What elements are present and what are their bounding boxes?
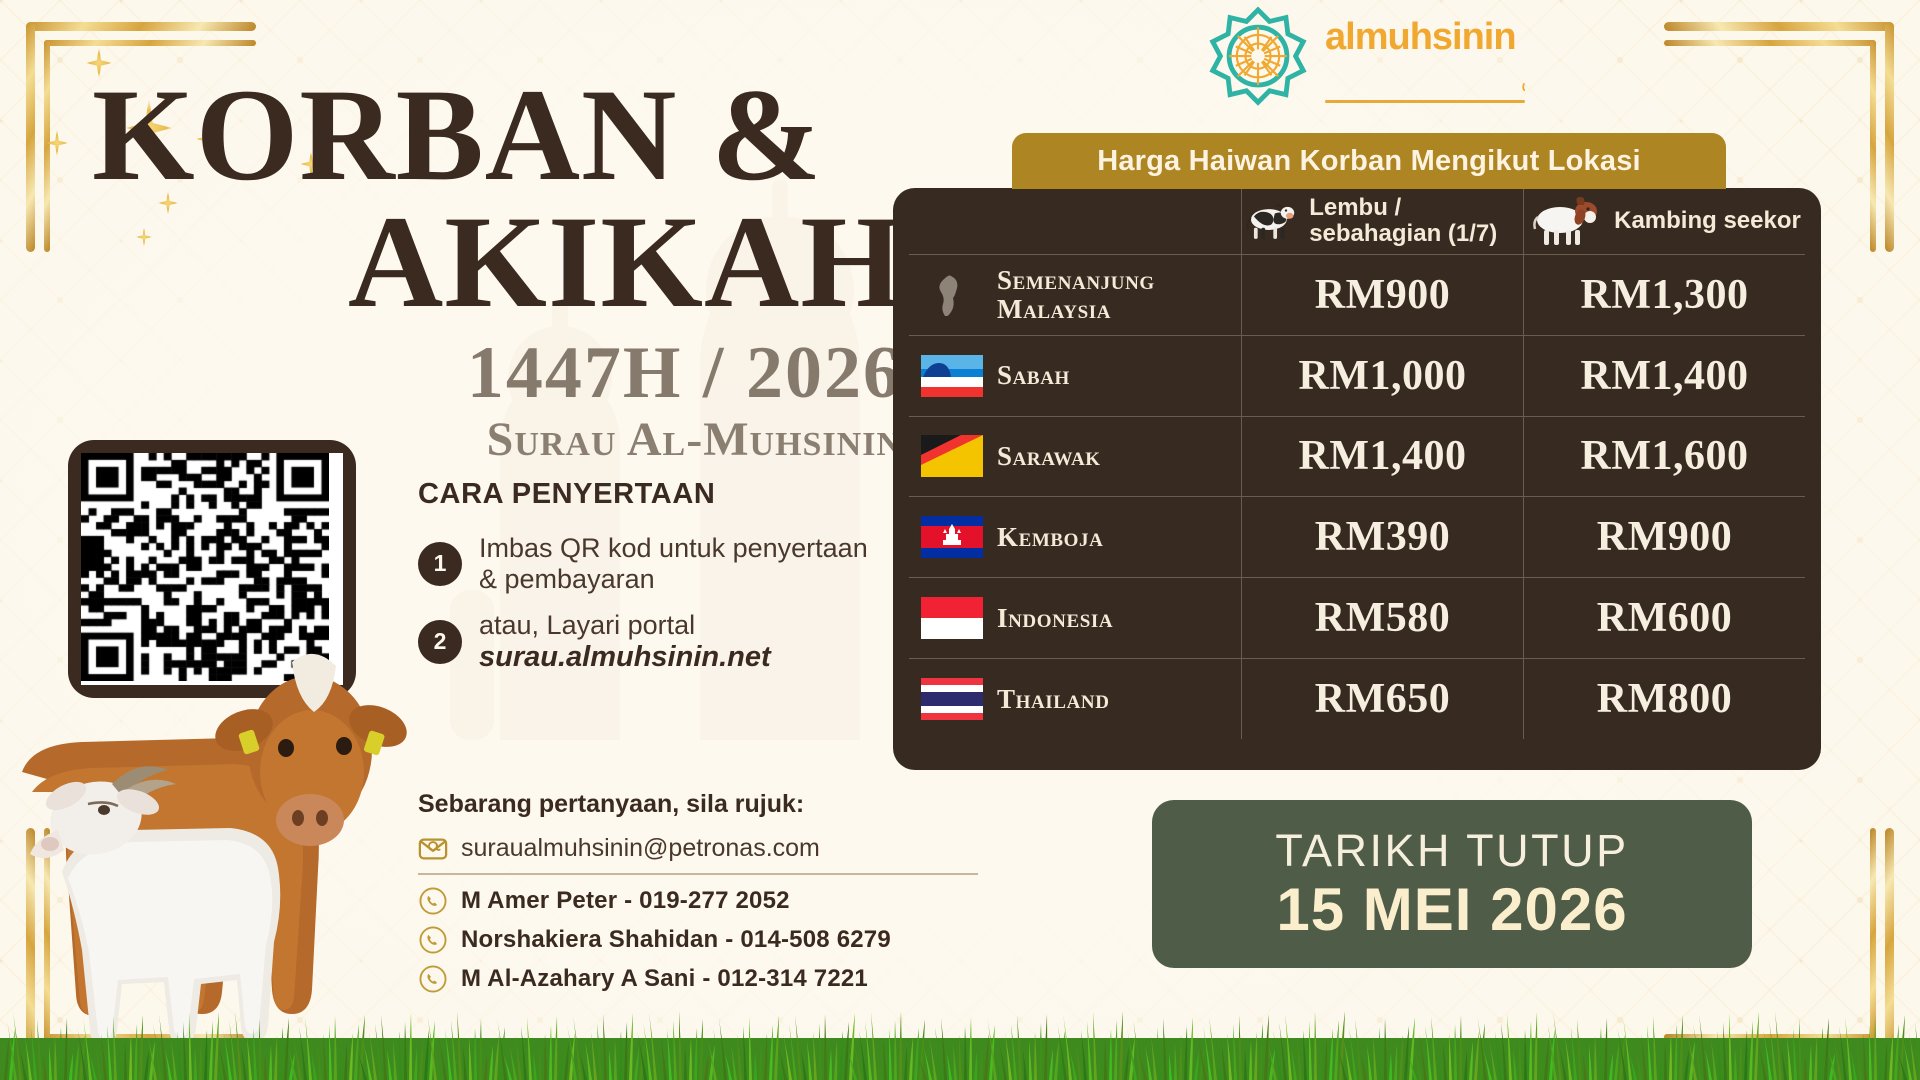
header-label-kambing: Kambing seekor	[1614, 208, 1801, 234]
price-value: RM1,400	[1299, 432, 1467, 480]
poster-title-line1: KORBAN &	[92, 72, 912, 199]
row-location-cell: Semenanjung Malaysia	[909, 255, 1241, 335]
row-price-lembu: RM1,400	[1241, 417, 1523, 497]
price-table-banner: Harga Haiwan Korban Mengikut Lokasi	[1012, 133, 1726, 189]
svg-text:سوراو المحسنين فيترونس: سوراو المحسنين فيترونس	[1521, 68, 1525, 92]
cow-icon	[1242, 195, 1297, 247]
contact-person-row[interactable]: Norshakiera Shahidan - 014-508 6279	[418, 925, 978, 955]
contact-email-row[interactable]: suraualmuhsinin@petronas.com	[418, 833, 978, 863]
row-price-lembu: RM900	[1241, 255, 1523, 335]
email-icon	[418, 833, 448, 863]
brand-logo: almuhsinin سوراو المحسنين فيترونس	[1205, 6, 1525, 112]
location-name: Semenanjung Malaysia	[997, 266, 1241, 323]
step-text: Imbas QR kod untuk penyertaan & pembayar…	[479, 533, 888, 594]
cow-and-goat-photo	[0, 622, 422, 1042]
contact-section: Sebarang pertanyaan, sila rujuk: suraual…	[418, 790, 978, 1003]
contact-person-row[interactable]: M Amer Peter - 019-277 2052	[418, 886, 978, 916]
deadline-label: TARIKH TUTUP	[1275, 825, 1628, 877]
contact-divider	[418, 873, 978, 875]
location-name: Thailand	[997, 685, 1110, 714]
how-to-step: 2 atau, Layari portal surau.almuhsinin.n…	[418, 610, 888, 673]
table-row: Semenanjung Malaysia RM900 RM1,300	[909, 254, 1805, 335]
price-value: RM600	[1597, 594, 1732, 642]
step-number-badge: 2	[418, 620, 462, 664]
location-name: Sarawak	[997, 442, 1101, 471]
price-value: RM1,300	[1581, 271, 1749, 319]
row-location-cell: Sabah	[909, 336, 1241, 416]
price-value: RM580	[1315, 594, 1450, 642]
row-price-kambing: RM800	[1523, 659, 1805, 739]
contact-person[interactable]: M Amer Peter - 019-277 2052	[461, 887, 790, 915]
price-value: RM1,600	[1581, 432, 1749, 480]
step-number-badge: 1	[418, 542, 462, 586]
price-value: RM900	[1597, 513, 1732, 561]
row-location-cell: Thailand	[909, 659, 1241, 739]
price-value: RM900	[1315, 271, 1450, 319]
contact-person-row[interactable]: M Al-Azahary A Sani - 012-314 7221	[418, 964, 978, 994]
row-price-lembu: RM650	[1241, 659, 1523, 739]
price-table-banner-text: Harga Haiwan Korban Mengikut Lokasi	[1097, 145, 1641, 178]
location-name: Indonesia	[997, 604, 1113, 633]
how-to-step: 1 Imbas QR kod untuk penyertaan & pembay…	[418, 533, 888, 594]
price-value: RM390	[1315, 513, 1450, 561]
row-location-cell: Kemboja	[909, 497, 1241, 577]
grass-decoration	[0, 1004, 1920, 1080]
sabah-flag-icon	[921, 355, 983, 397]
logo-arabic-text: سوراو المحسنين فيترونس	[1325, 63, 1525, 95]
contact-heading: Sebarang pertanyaan, sila rujuk:	[418, 790, 978, 819]
row-price-kambing: RM900	[1523, 497, 1805, 577]
header-cell-lembu: Lembu / sebahagian (1/7)	[1241, 188, 1523, 254]
peninsular-malaysia-map-icon	[921, 274, 983, 316]
row-price-kambing: RM1,300	[1523, 255, 1805, 335]
row-price-kambing: RM1,400	[1523, 336, 1805, 416]
location-name: Sabah	[997, 361, 1070, 390]
deadline-box: TARIKH TUTUP 15 MEI 2026	[1152, 800, 1752, 968]
phone-icon	[418, 886, 448, 916]
svg-text:almuhsinin: almuhsinin	[1325, 16, 1516, 58]
table-row: Sabah RM1,000 RM1,400	[909, 335, 1805, 416]
price-value: RM1,400	[1581, 352, 1749, 400]
price-value: RM800	[1597, 675, 1732, 723]
poster-title-line2: AKIKAH	[92, 199, 912, 326]
header-cell-kambing: Kambing seekor	[1523, 188, 1805, 254]
table-row: Kemboja RM390 RM900	[909, 496, 1805, 577]
cambodia-flag-icon	[921, 516, 983, 558]
price-table: Lembu / sebahagian (1/7)	[893, 188, 1821, 770]
row-price-lembu: RM580	[1241, 578, 1523, 658]
header-cell-location	[909, 188, 1241, 254]
goat-icon	[1528, 195, 1602, 247]
location-name: Kemboja	[997, 523, 1103, 552]
contact-email[interactable]: suraualmuhsinin@petronas.com	[461, 834, 820, 863]
header-label-lembu: Lembu / sebahagian (1/7)	[1309, 195, 1523, 248]
row-price-kambing: RM600	[1523, 578, 1805, 658]
price-value: RM1,000	[1299, 352, 1467, 400]
headline-block: KORBAN & AKIKAH 1447H / 2026 Surau Al-Mu…	[92, 72, 912, 467]
almuhsinin-star-mandala-icon	[1205, 6, 1311, 112]
price-table-header-row: Lembu / sebahagian (1/7)	[909, 188, 1805, 254]
phone-icon	[418, 964, 448, 994]
table-row: Sarawak RM1,400 RM1,600	[909, 416, 1805, 497]
row-price-lembu: RM390	[1241, 497, 1523, 577]
row-location-cell: Sarawak	[909, 417, 1241, 497]
deadline-date: 15 MEI 2026	[1276, 875, 1627, 944]
row-location-cell: Indonesia	[909, 578, 1241, 658]
how-to-title: CARA PENYERTAAN	[418, 478, 888, 511]
phone-icon	[418, 925, 448, 955]
row-price-kambing: RM1,600	[1523, 417, 1805, 497]
contact-person[interactable]: M Al-Azahary A Sani - 012-314 7221	[461, 965, 868, 993]
almuhsinin-wordmark: almuhsinin	[1325, 15, 1525, 61]
how-to-participate-section: CARA PENYERTAAN 1 Imbas QR kod untuk pen…	[418, 478, 888, 689]
price-value: RM650	[1315, 675, 1450, 723]
contact-person[interactable]: Norshakiera Shahidan - 014-508 6279	[461, 926, 891, 954]
thailand-flag-icon	[921, 678, 983, 720]
step-text-label: atau, Layari portal	[479, 610, 695, 640]
poster-year: 1447H / 2026	[92, 331, 912, 416]
portal-link[interactable]: surau.almuhsinin.net	[479, 641, 771, 673]
table-row: Thailand RM650 RM800	[909, 658, 1805, 739]
step-text: atau, Layari portal surau.almuhsinin.net	[479, 610, 771, 673]
logo-underline	[1325, 100, 1525, 103]
sarawak-flag-icon	[921, 435, 983, 477]
poster-root: KORBAN & AKIKAH 1447H / 2026 Surau Al-Mu…	[0, 0, 1920, 1080]
row-price-lembu: RM1,000	[1241, 336, 1523, 416]
table-row: Indonesia RM580 RM600	[909, 577, 1805, 658]
indonesia-flag-icon	[921, 597, 983, 639]
